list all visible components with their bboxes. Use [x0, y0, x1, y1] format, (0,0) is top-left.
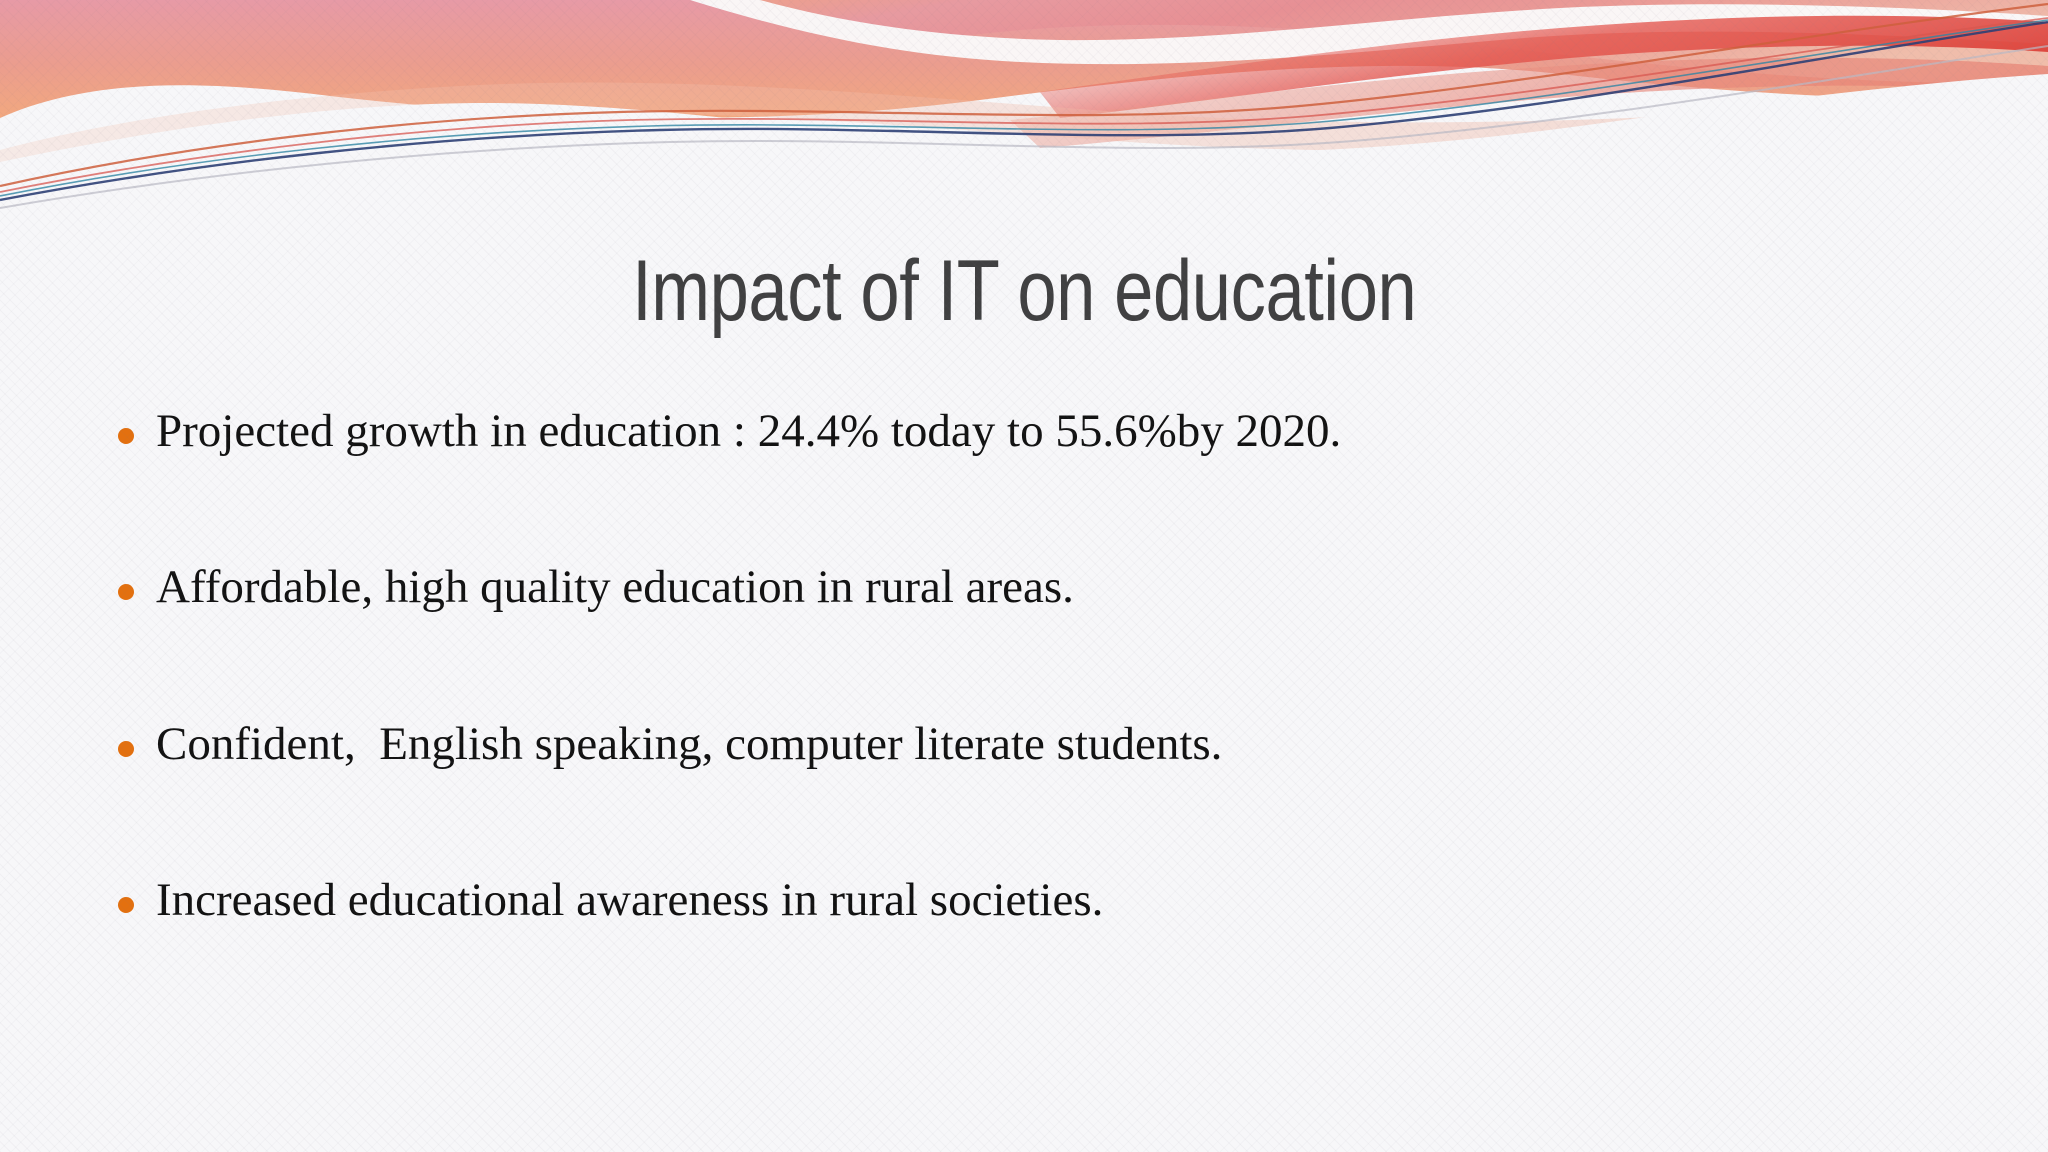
list-item: Projected growth in education : 24.4% to… — [118, 404, 1938, 459]
decorative-wave-banner — [0, 0, 2048, 210]
list-item: Confident, English speaking, computer li… — [118, 717, 1938, 772]
list-item-text: Affordable, high quality education in ru… — [156, 560, 1938, 615]
content-placeholder: Projected growth in education : 24.4% to… — [118, 404, 1938, 929]
list-item-text: Confident, English speaking, computer li… — [156, 717, 1938, 772]
list-item-text: Projected growth in education : 24.4% to… — [156, 404, 1938, 459]
bullet-dot-icon — [118, 897, 134, 913]
bullet-dot-icon — [118, 428, 134, 444]
bullet-dot-icon — [118, 584, 134, 600]
bullet-dot-icon — [118, 741, 134, 757]
presentation-slide: Impact of IT on education Projected grow… — [0, 0, 2048, 1152]
list-item: Affordable, high quality education in ru… — [118, 560, 1938, 615]
list-item-text: Increased educational awareness in rural… — [156, 873, 1938, 928]
title-placeholder: Impact of IT on education — [0, 188, 2048, 394]
page-title: Impact of IT on education — [632, 246, 1416, 336]
list-item: Increased educational awareness in rural… — [118, 873, 1938, 928]
